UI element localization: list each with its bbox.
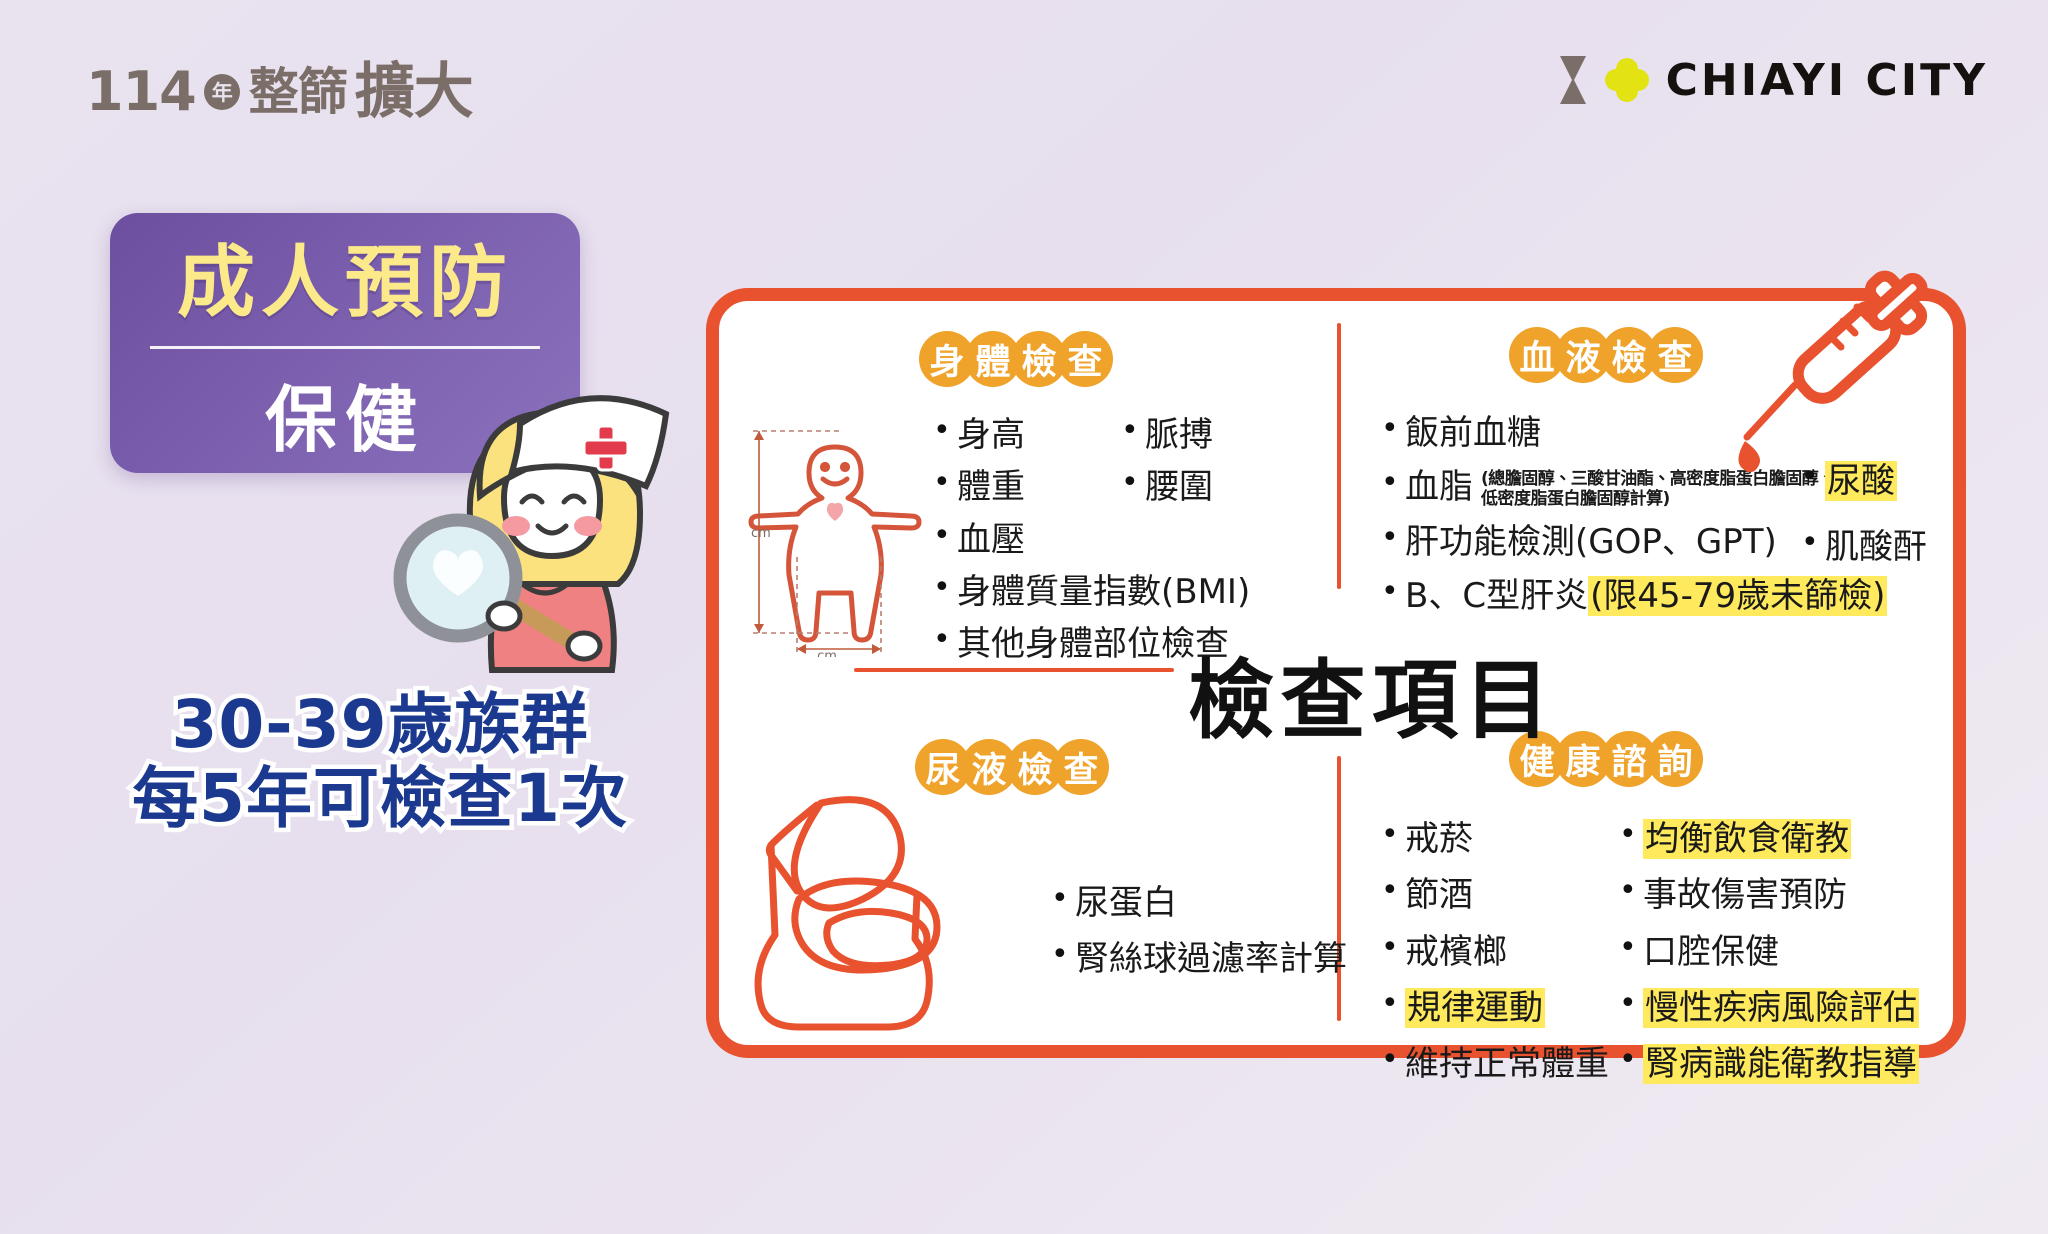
list-item-label-highlight: (限45-79歲未篩檢): [1588, 576, 1887, 616]
list-item-label: 腎病識能衛教指導: [1643, 1044, 1919, 1084]
campaign-label-expand: 擴大: [355, 62, 473, 122]
list-item: 均衡飲食衛教: [1617, 815, 1919, 863]
poster-root: 114 年 整篩 擴大 CHIAYI CITY 成人預防 保健: [0, 0, 2048, 1234]
physical-exam-list-right: 脈搏 腰圍: [1119, 411, 1213, 516]
list-item: 維持正常體重: [1379, 1040, 1609, 1088]
list-item: 腰圍: [1119, 463, 1213, 511]
person-width-unit-label: cm: [817, 649, 837, 657]
hero-title-line1: 成人預防: [177, 220, 513, 332]
list-item: 戒檳榔: [1379, 928, 1609, 976]
list-item: 肌酸酐: [1799, 523, 1927, 571]
list-item-label: 尿酸: [1825, 461, 1897, 501]
list-item-label: 肌酸酐: [1825, 527, 1927, 567]
person-height-unit-label: cm: [751, 526, 771, 541]
list-item: 尿蛋白: [1049, 879, 1347, 927]
exam-items-center-title: 檢查項目: [1188, 630, 1556, 755]
list-item: B、C型肝炎(限45-79歲未篩檢): [1379, 572, 1887, 620]
badge-char: 詢: [1647, 731, 1703, 787]
section-blood-exam: 血 液 檢 查: [1509, 327, 1693, 383]
list-item-label: 慢性疾病風險評估: [1643, 988, 1919, 1028]
campaign-header: 114 年 整篩 擴大: [86, 62, 473, 122]
section-blood-exam-badge: 血 液 檢 查: [1509, 327, 1693, 383]
badge-char: 查: [1057, 331, 1113, 387]
badge-char: 查: [1647, 327, 1703, 383]
health-consult-list-left: 戒菸 節酒 戒檳榔 規律運動 維持正常體重: [1379, 815, 1609, 1092]
person-measure-icon: cm cm: [741, 417, 929, 657]
list-item: 腎絲球過濾率計算: [1049, 935, 1347, 983]
list-item: 脈搏: [1119, 411, 1213, 459]
list-item: 規律運動: [1379, 984, 1609, 1032]
campaign-year-char: 年: [204, 74, 240, 110]
list-item-label: 肝功能檢測(GOP、GPT): [1405, 522, 1777, 562]
campaign-year-number: 114: [86, 65, 196, 119]
list-item: 血壓: [931, 516, 1250, 564]
divider-top-vertical: [1337, 323, 1341, 589]
clover-icon: [1604, 57, 1650, 103]
list-item: 戒菸: [1379, 815, 1609, 863]
list-item: 節酒: [1379, 871, 1609, 919]
urine-exam-list: 尿蛋白 腎絲球過濾率計算: [1049, 879, 1347, 988]
toilet-icon: [713, 783, 983, 1033]
badge-char: 查: [1053, 739, 1109, 795]
section-physical-exam-badge: 身 體 檢 查: [919, 331, 1103, 387]
blood-lipid-note: (總膽固醇、三酸甘油酯、高密度脂蛋白膽固醇、低密度脂蛋白膽固醇計算): [1481, 469, 1841, 509]
list-item-label: 飯前血糖: [1405, 413, 1541, 453]
list-item-label: 規律運動: [1405, 988, 1545, 1028]
list-item: 口腔保健: [1617, 928, 1919, 976]
list-item: 飯前血糖: [1379, 409, 1887, 457]
hourglass-icon: [1558, 54, 1588, 106]
list-item: 尿酸: [1799, 457, 1927, 505]
hero-divider: [150, 346, 540, 349]
nurse-mascot-icon: [380, 350, 710, 690]
eligibility-slogan: 30-39歲族群 每5年可檢查1次: [100, 688, 660, 836]
blood-exam-list-right: 尿酸 肌酸酐: [1799, 457, 1927, 576]
health-consult-list-right: 均衡飲食衛教 事故傷害預防 口腔保健 慢性疾病風險評估 腎病識能衛教指導: [1617, 815, 1919, 1092]
list-item-label: 血脂: [1405, 467, 1473, 507]
list-item: 身體質量指數(BMI): [931, 568, 1250, 616]
slogan-line-1: 30-39歲族群: [100, 688, 660, 762]
logo-text: CHIAYI CITY: [1666, 55, 1988, 106]
chiayi-city-logo: CHIAYI CITY: [1558, 54, 1988, 106]
list-item-label: 均衡飲食衛教: [1643, 819, 1851, 859]
list-item-label-prefix: B、C型肝炎: [1405, 576, 1588, 616]
list-item: 慢性疾病風險評估: [1617, 984, 1919, 1032]
slogan-line-2: 每5年可檢查1次: [100, 762, 660, 836]
campaign-label-screening: 整篩: [249, 67, 347, 117]
list-item: 腎病識能衛教指導: [1617, 1040, 1919, 1088]
section-physical-exam: 身 體 檢 查: [919, 331, 1103, 387]
list-item: 事故傷害預防: [1617, 871, 1919, 919]
